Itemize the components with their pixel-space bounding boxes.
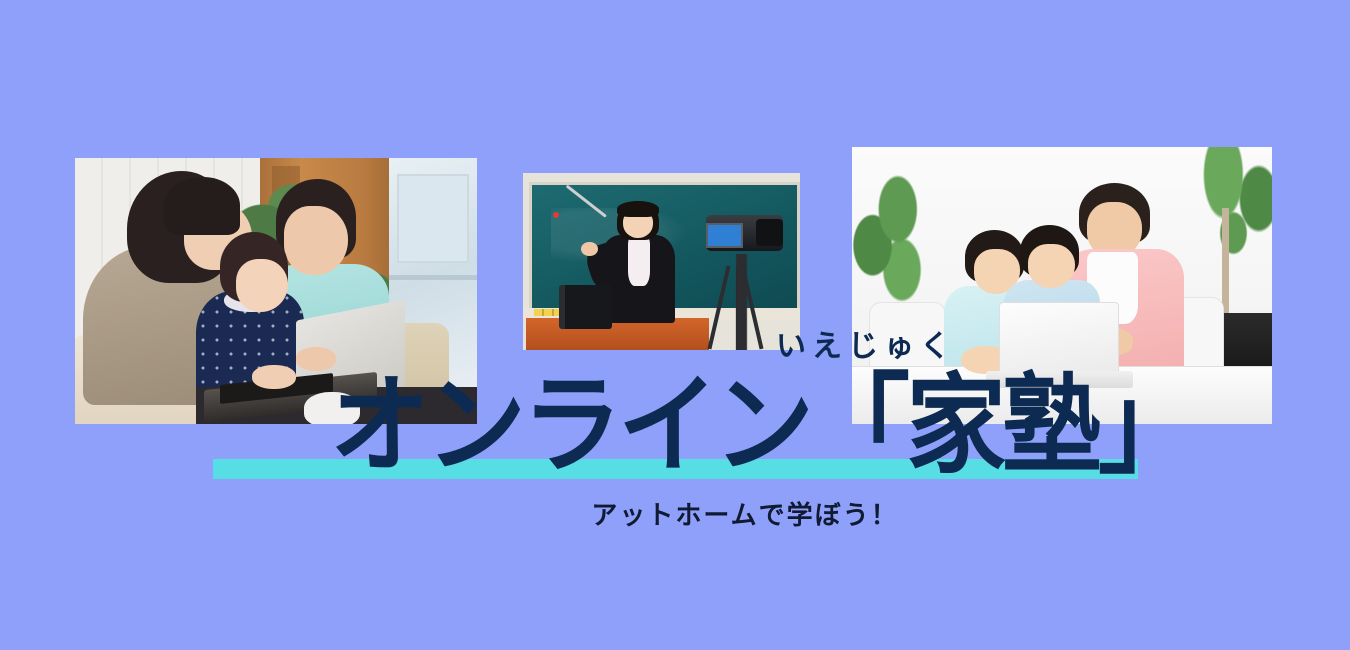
photo3-plant-right <box>1188 147 1272 319</box>
title-underline-bar <box>213 459 1138 479</box>
photo3-laptop-base <box>986 371 1133 388</box>
photo2-teacher-hand <box>581 242 598 256</box>
photo3-laptop-screen <box>999 302 1119 382</box>
photo2-camera-lens <box>756 219 784 246</box>
headline-subtitle: アットホームで学ぼう！ <box>0 503 1350 529</box>
photo-family-laptop <box>75 158 477 424</box>
photo1-glass-pane <box>397 174 469 263</box>
photo2-tablet <box>559 285 612 329</box>
photo1-father-face <box>284 206 348 275</box>
photo2-teacher-bangs <box>617 201 659 217</box>
photo2-camera-lcd-screen <box>706 223 743 248</box>
photo2-teacher-shirt <box>628 237 650 287</box>
photo3-plant-left <box>852 166 923 310</box>
online-juku-banner: いえじゅく オンライン「家塾」 アットホームで学ぼう！ <box>0 0 1350 650</box>
photo2-tripod-column <box>711 254 772 350</box>
photo1-girl-hand <box>252 365 296 389</box>
photo-father-sons <box>852 147 1272 424</box>
photo1-father-hand <box>296 347 336 371</box>
photo-teacher-camera <box>523 173 800 350</box>
photo1-mother-bangs <box>163 177 239 236</box>
photo1-glass-rail <box>389 275 477 280</box>
photo1-sock <box>304 392 360 424</box>
